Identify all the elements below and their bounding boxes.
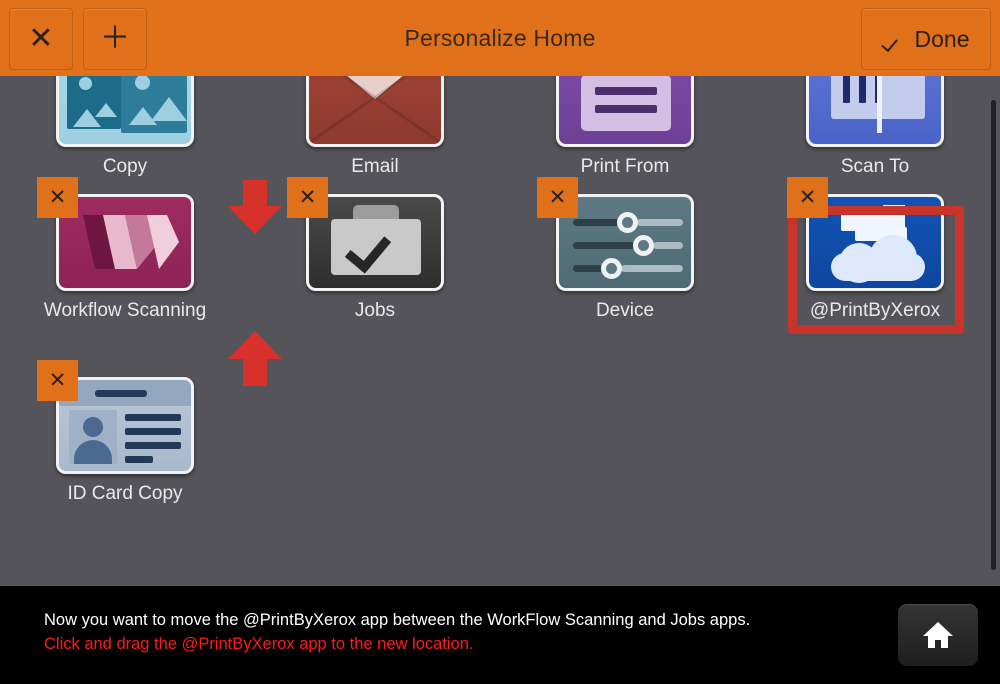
done-button[interactable]: Done (861, 8, 991, 70)
drag-target-arrow-up-icon (228, 331, 282, 359)
remove-app-button[interactable]: ✕ (787, 177, 828, 218)
tile-wrap: ✕ (56, 377, 194, 474)
app-label: Copy (0, 156, 250, 178)
app-label: Print From (500, 156, 750, 178)
app-tile-device[interactable]: ✕ Device (500, 194, 750, 322)
app-tile-print-by-xerox[interactable]: ✕ @PrintByXerox (750, 194, 1000, 322)
remove-app-button[interactable]: ✕ (537, 177, 578, 218)
app-label: @PrintByXerox (750, 300, 1000, 322)
app-label: Scan To (750, 156, 1000, 178)
app-grid-area: Copy Email Print From (0, 76, 1000, 586)
app-label: ID Card Copy (0, 483, 250, 505)
tile-wrap: ✕ (556, 194, 694, 291)
copy-icon[interactable] (56, 76, 194, 147)
remove-app-button[interactable]: ✕ (287, 177, 328, 218)
drag-target-arrow-down-icon (228, 206, 282, 234)
vertical-scrollbar[interactable] (991, 100, 996, 570)
app-tile-workflow-scanning[interactable]: ✕ Workflow Scanning (0, 194, 250, 322)
done-button-label: Done (915, 26, 970, 53)
tile-wrap: ✕ (806, 194, 944, 291)
action-line: Click and drag the @PrintByXerox app to … (44, 632, 844, 656)
instruction-line: Now you want to move the @PrintByXerox a… (44, 608, 844, 632)
instruction-text: Now you want to move the @PrintByXerox a… (44, 608, 844, 656)
app-label: Workflow Scanning (0, 300, 250, 322)
tile-wrap (556, 76, 694, 147)
app-tile-scan-to[interactable]: Scan To (750, 76, 1000, 178)
print-from-icon[interactable] (556, 76, 694, 147)
instruction-footer: Now you want to move the @PrintByXerox a… (0, 586, 1000, 684)
drag-target-arrow-up-shaft (243, 359, 267, 386)
remove-app-button[interactable]: ✕ (37, 177, 78, 218)
email-icon[interactable] (306, 76, 444, 147)
app-tile-copy[interactable]: Copy (0, 76, 250, 178)
scan-to-icon[interactable] (806, 76, 944, 147)
page-title: Personalize Home (0, 0, 1000, 76)
drag-target-arrow-down-shaft (243, 180, 267, 208)
tile-wrap (806, 76, 944, 147)
app-label: Email (250, 156, 500, 178)
app-tile-email[interactable]: Email (250, 76, 500, 178)
app-grid: Copy Email Print From (0, 76, 985, 586)
home-icon (921, 619, 955, 651)
tile-wrap (306, 76, 444, 147)
app-tile-id-card-copy[interactable]: ✕ ID Card Copy (0, 377, 250, 505)
header-bar: ✕ ＋ Personalize Home Done (0, 0, 1000, 76)
app-label: Device (500, 300, 750, 322)
app-label: Jobs (250, 300, 500, 322)
tile-wrap: ✕ (306, 194, 444, 291)
tile-wrap: ✕ (56, 194, 194, 291)
app-tile-jobs[interactable]: ✕ Jobs (250, 194, 500, 322)
check-icon (883, 28, 905, 50)
app-tile-print-from[interactable]: Print From (500, 76, 750, 178)
home-button[interactable] (898, 604, 978, 666)
tile-wrap (56, 76, 194, 147)
remove-app-button[interactable]: ✕ (37, 360, 78, 401)
